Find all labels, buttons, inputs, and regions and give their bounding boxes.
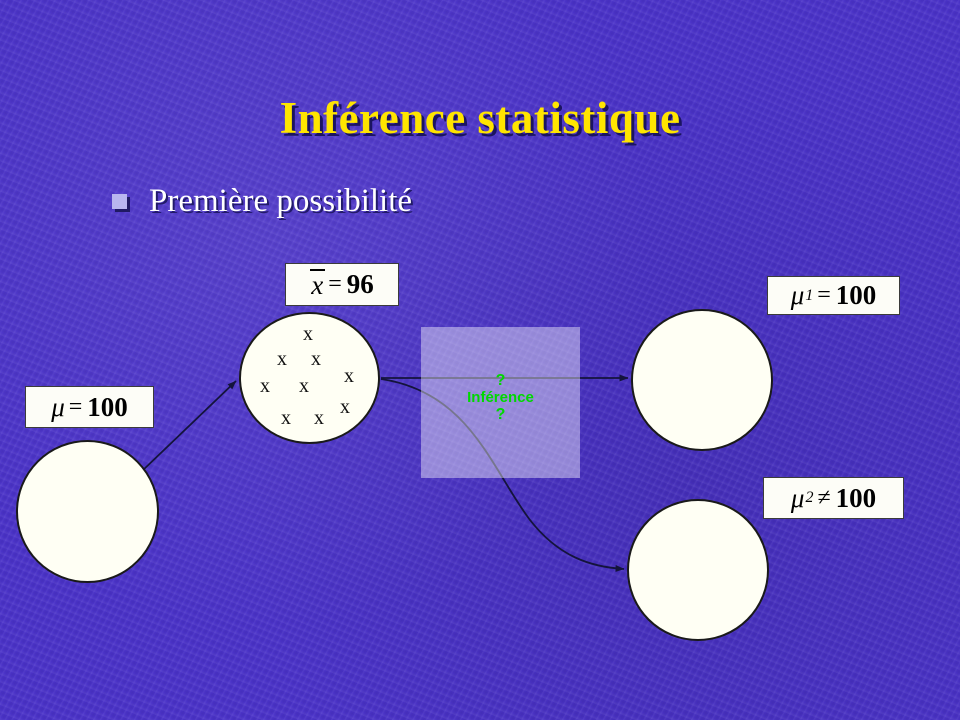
arrow-population-to-sample: [141, 381, 236, 472]
sample-mean-value: 96: [347, 269, 374, 300]
population-circle: [16, 440, 159, 583]
sample-mark: x: [299, 376, 309, 396]
slide: Inférence statistique Première possibili…: [0, 0, 960, 720]
sample-mark: x: [344, 366, 354, 386]
sample-mark: x: [303, 324, 313, 344]
hypothesis-1-value: 100: [836, 280, 877, 311]
sample-mark: x: [311, 349, 321, 369]
hypothesis-1-subscript: 1: [805, 287, 814, 305]
sample-mean-operator: =: [328, 271, 343, 298]
hypothesis-2-value: 100: [836, 483, 877, 514]
bullet-item-label: Première possibilité: [149, 183, 412, 220]
hypothesis-2-operator: ≠: [817, 485, 831, 512]
sample-mark: x: [314, 408, 324, 428]
hypothesis-1-formula: μ1 = 100: [767, 276, 900, 315]
sample-mean-formula: x = 96: [285, 263, 399, 306]
inference-question-bottom: ?: [421, 406, 580, 423]
sample-mark: x: [277, 349, 287, 369]
population-mean-value: 100: [87, 392, 128, 423]
square-bullet-icon: [112, 194, 127, 209]
hypothesis-2-formula: μ2 ≠ 100: [763, 477, 904, 519]
bullet-item: Première possibilité: [112, 183, 412, 220]
sample-mark: x: [340, 397, 350, 417]
population-mean-symbol: μ: [51, 392, 66, 423]
hypothesis-1-circle: [631, 309, 773, 451]
page-title: Inférence statistique: [0, 92, 960, 144]
hypothesis-2-subscript: 2: [805, 489, 814, 507]
sample-mark: x: [260, 376, 270, 396]
sample-circle: x x x x x x x x x: [239, 312, 380, 444]
sample-mean-symbol: x: [310, 269, 325, 299]
inference-question-top: ?: [421, 372, 580, 389]
hypothesis-2-circle: [627, 499, 769, 641]
population-mean-formula: μ = 100: [25, 386, 154, 428]
population-mean-operator: =: [69, 394, 84, 421]
inference-label-group: ? Inférence ?: [421, 372, 580, 423]
hypothesis-1-symbol: μ: [791, 280, 806, 311]
inference-label: Inférence: [467, 389, 534, 406]
hypothesis-1-operator: =: [817, 282, 832, 309]
hypothesis-2-symbol: μ: [791, 483, 806, 514]
sample-mark: x: [281, 408, 291, 428]
